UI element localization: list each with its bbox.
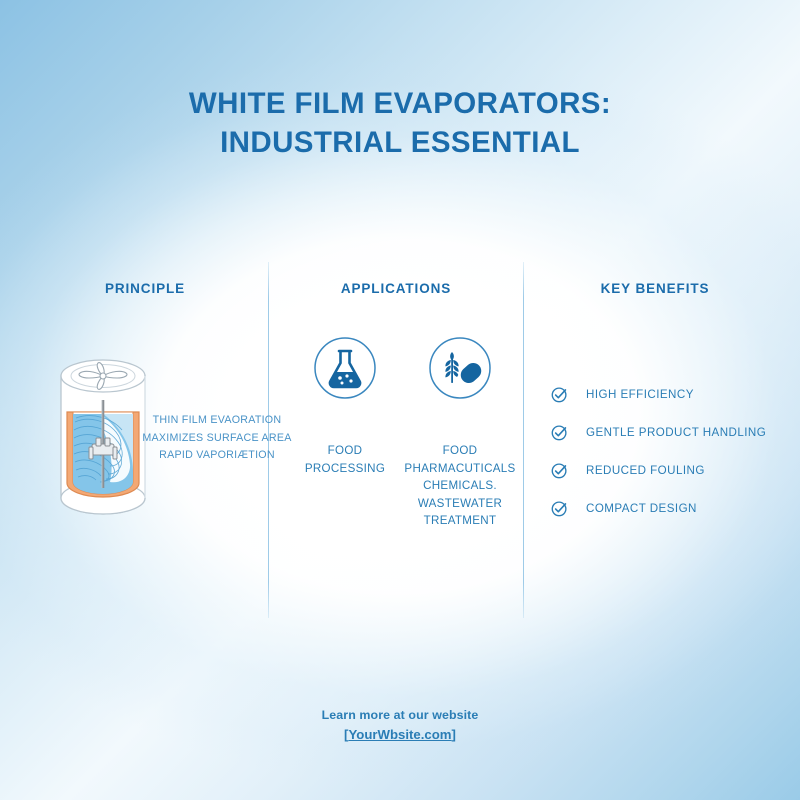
principle-text-line-3: RAPID VAPORIÆTION [136, 447, 298, 465]
infographic-poster: WHITE FILM EVAPORATORS: INDUSTRIAL ESSEN… [0, 0, 800, 800]
principle-text-line-1: THIN FILM EVAORATION [136, 412, 298, 430]
application-label-line-4: WASTEWATER [400, 495, 520, 513]
section-heading-principle: PRINCIPLE [30, 281, 260, 296]
benefit-label: REDUCED FOULING [586, 464, 705, 477]
footer-text: Learn more at our website [0, 706, 800, 725]
check-circle-icon [551, 462, 568, 479]
list-item: REDUCED FOULING [551, 451, 791, 489]
benefit-label: GENTLE PRODUCT HANDLING [586, 426, 766, 439]
title-line-2: INDUSTRIAL ESSENTIAL [0, 123, 800, 162]
wheat-pill-icon [428, 336, 492, 400]
page-title: WHITE FILM EVAPORATORS: INDUSTRIAL ESSEN… [0, 84, 800, 162]
principle-description: THIN FILM EVAORATION MAXIMIZES SURFACE A… [136, 412, 298, 465]
link-bracket-close: ] [452, 727, 456, 742]
link-label[interactable]: YourWbsite.com [348, 727, 451, 742]
list-item: COMPACT DESIGN [551, 489, 791, 527]
application-label-line-5: TREATMENT [400, 512, 520, 530]
application-label-line-1: FOOD [285, 442, 405, 460]
check-circle-icon [551, 386, 568, 403]
section-heading-benefits: KEY BENEFITS [540, 281, 770, 296]
application-item-food-processing: FOOD PROCESSING [285, 336, 405, 477]
flask-icon [313, 336, 377, 400]
application-label: FOOD PHARMACUTICALS CHEMICALS. WASTEWATE… [400, 442, 520, 530]
list-item: HIGH EFFICIENCY [551, 375, 791, 413]
application-label: FOOD PROCESSING [285, 442, 405, 477]
principle-text-line-2: MAXIMIZES SURFACE AREA [136, 430, 298, 448]
benefit-label: COMPACT DESIGN [586, 502, 697, 515]
check-circle-icon [551, 500, 568, 517]
section-heading-applications: APPLICATIONS [281, 281, 511, 296]
application-label-line-2: PHARMACUTICALS [400, 460, 520, 478]
application-item-pharma: FOOD PHARMACUTICALS CHEMICALS. WASTEWATE… [400, 336, 520, 530]
check-circle-icon [551, 424, 568, 441]
website-link[interactable]: [YourWbsite.com] [0, 725, 800, 745]
application-label-line-3: CHEMICALS. [400, 477, 520, 495]
footer: Learn more at our website [YourWbsite.co… [0, 706, 800, 745]
title-line-1: WHITE FILM EVAPORATORS: [0, 84, 800, 123]
application-label-line-2: PROCESSING [285, 460, 405, 478]
list-item: GENTLE PRODUCT HANDLING [551, 413, 791, 451]
benefits-list: HIGH EFFICIENCY GENTLE PRODUCT HANDLING … [551, 375, 791, 527]
application-label-line-1: FOOD [400, 442, 520, 460]
benefit-label: HIGH EFFICIENCY [586, 388, 694, 401]
column-divider-2 [523, 262, 524, 618]
